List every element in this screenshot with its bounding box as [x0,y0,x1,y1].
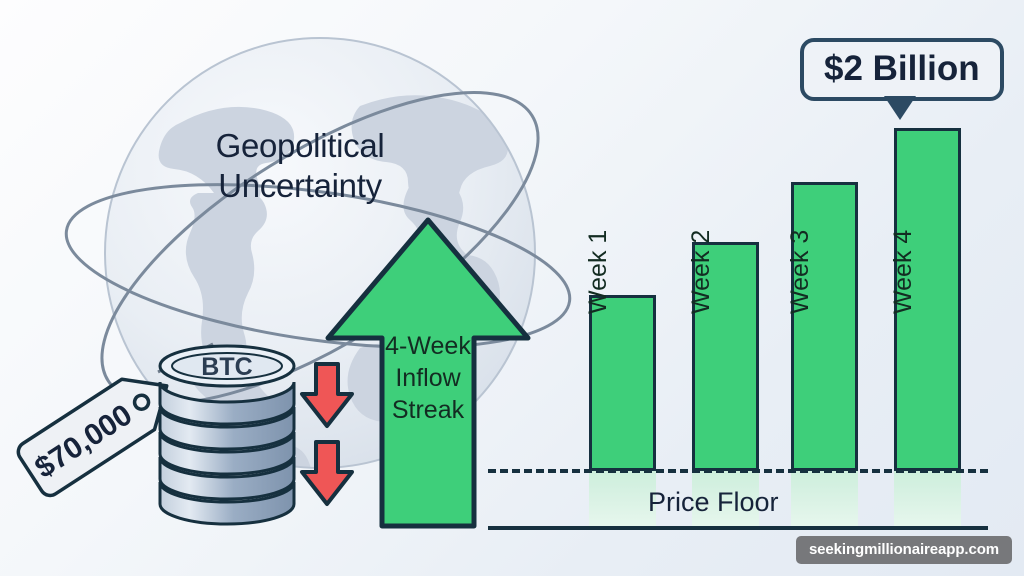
bar-label-week-4: Week 4 [889,230,918,314]
bar-week-1-below-floor [589,471,656,530]
coin-stack-label: BTC [201,353,252,381]
price-floor-line [488,469,988,473]
bar-label-week-1: Week 1 [584,230,613,314]
btc-coin-stack: BTC [152,336,302,532]
price-floor-label: Price Floor [648,487,779,518]
two-billion-callout: $2 Billion [800,38,1004,101]
bar-label-week-2: Week 2 [687,230,716,314]
infographic-canvas: Geopolitical Uncertainty $70,000 [0,0,1024,576]
geopolitical-uncertainty-label: Geopolitical Uncertainty [140,126,460,207]
chart-baseline [488,526,988,530]
bar-week-4-below-floor [894,471,961,530]
bar-label-week-3: Week 3 [786,230,815,314]
bar-week-3 [791,182,858,471]
bar-week-3-below-floor [791,471,858,530]
inflow-streak-label: 4-Week Inflow Streak [360,330,496,426]
watermark: seekingmillionaireapp.com [796,536,1012,564]
callout-pointer-icon [884,96,916,120]
bar-week-1 [589,295,656,471]
weekly-inflow-bar-chart: Week 1 Week 2 Week 3 Week 4 Price Floor [488,60,988,530]
coin-layer [160,382,294,524]
